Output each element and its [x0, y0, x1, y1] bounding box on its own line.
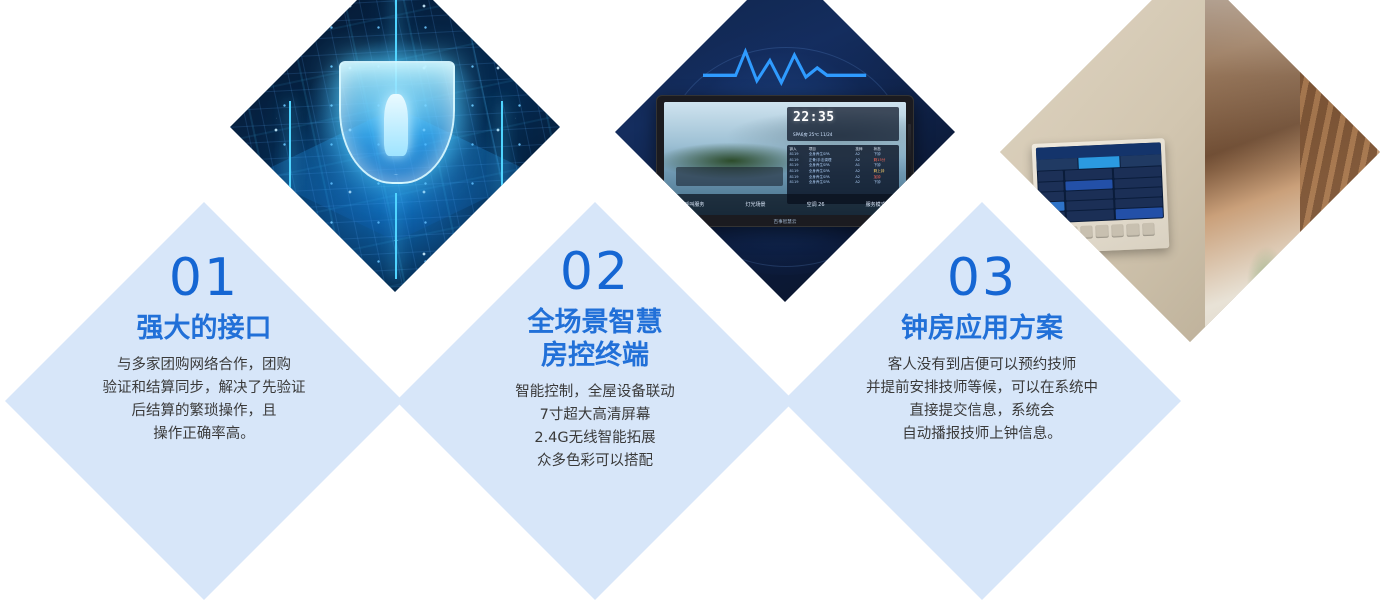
- cell: A2: [855, 180, 871, 186]
- terminal-product-image: 22:35 SPA6房 25℃ 11/24 钟入 项目 技师 状态 8119: [615, 0, 955, 302]
- panel-screen: [1036, 142, 1164, 223]
- card-01-content: 01 强大的接口 与多家团购网络合作，团购验证和结算同步，解决了先验证后结算的繁…: [5, 252, 403, 446]
- card-01-title: 强大的接口: [5, 313, 403, 346]
- list-item-highlight: [1116, 207, 1164, 218]
- music-player-widget: [676, 167, 783, 185]
- photo-diamond-security: [230, 0, 560, 292]
- card-01-description: 与多家团购网络合作，团购验证和结算同步，解决了先验证后结算的繁琐操作，且操作正确…: [5, 354, 403, 446]
- rail-item-active: [1039, 201, 1064, 211]
- rail-item: [1039, 181, 1064, 191]
- cell: 下钟: [874, 180, 897, 186]
- panel-button: [1065, 226, 1078, 240]
- panel-tab-selected: [1079, 156, 1120, 169]
- panel-button: [1111, 224, 1124, 238]
- card-03-content: 03 钟房应用方案 客人没有到店便可以预约技师并提前安排技师等候，可以在系统中直…: [783, 252, 1181, 446]
- panel-tab: [1037, 158, 1078, 171]
- panel-button: [1049, 227, 1062, 241]
- card-01-number: 01: [5, 252, 403, 304]
- rail-item: [1039, 191, 1064, 201]
- panel-hardware-buttons: [1039, 217, 1165, 245]
- card-03-title: 钟房应用方案: [783, 313, 1181, 346]
- light-ray-left: [289, 101, 291, 200]
- security-hologram-image: [230, 0, 560, 292]
- list-item: [1066, 199, 1114, 210]
- light-ray-right: [501, 101, 503, 200]
- bar-item-service-mode: 服务模式: [866, 201, 886, 208]
- device-screen: 22:35 SPA6房 25℃ 11/24 钟入 项目 技师 状态 8119: [664, 102, 906, 216]
- wall-control-panel: [1032, 138, 1170, 254]
- plant-foliage: [1228, 205, 1357, 334]
- feature-card-01: 01 强大的接口 与多家团购网络合作，团购验证和结算同步，解决了先验证后结算的繁…: [5, 202, 403, 600]
- panel-button: [1127, 223, 1140, 237]
- list-item: [1066, 189, 1114, 200]
- card-03-description: 客人没有到店便可以预约技师并提前安排技师等候，可以在系统中直接提交信息，系统会自…: [783, 354, 1181, 446]
- panel-button: [1142, 223, 1155, 237]
- list-item: [1114, 177, 1162, 188]
- heartbeat-icon: [703, 44, 866, 88]
- clock-status-line: SPA6房 25℃ 11/24: [793, 132, 832, 138]
- bottom-quick-bar: 呼叫服务 灯光场景 空调 26 服务模式: [664, 194, 906, 216]
- card-02-number: 02: [396, 246, 794, 298]
- list-item-selected: [1065, 179, 1113, 190]
- light-ray-bottom: [395, 193, 397, 279]
- clock-time: 22:35: [793, 111, 835, 124]
- panel-button: [1096, 225, 1109, 239]
- table-row: 8119 全身养生SPA A2 下钟: [789, 180, 896, 186]
- card-02-title: 全场景智慧房控终端: [396, 307, 794, 373]
- bar-item-call-service: 呼叫服务: [684, 201, 704, 208]
- feature-card-02: 02 全场景智慧房控终端 智能控制，全屋设备联动7寸超大高清屏幕2.4G无线智能…: [396, 202, 794, 600]
- device-brand-label: 百事智慧云: [657, 219, 913, 225]
- cell: 8119: [789, 180, 806, 186]
- rail-item: [1038, 171, 1063, 181]
- panel-body: [1037, 165, 1164, 223]
- panel-button: [1080, 225, 1093, 239]
- card-02-description: 智能控制，全屋设备联动7寸超大高清屏幕2.4G无线智能拓展众多色彩可以搭配: [396, 381, 794, 473]
- panel-list-right: [1114, 166, 1163, 218]
- panel-left-rail: [1038, 171, 1065, 222]
- bar-item-light-scene: 灯光场景: [745, 201, 765, 208]
- photo-diamond-terminal: 22:35 SPA6房 25℃ 11/24 钟入 项目 技师 状态 8119: [615, 0, 955, 302]
- device-side-buttons: [908, 124, 911, 176]
- list-item: [1114, 166, 1162, 177]
- rail-item: [1040, 212, 1065, 222]
- list-item: [1065, 169, 1113, 180]
- panel-list-left: [1065, 169, 1114, 221]
- list-item: [1066, 209, 1114, 220]
- list-item: [1115, 197, 1163, 208]
- cell: 全身养生SPA: [809, 180, 854, 186]
- feature-diamonds-banner: 22:35 SPA6房 25℃ 11/24 钟入 项目 技师 状态 8119: [0, 0, 1381, 603]
- bar-item-aircon: 空调 26: [807, 201, 825, 208]
- clock-widget: 22:35 SPA6房 25℃ 11/24: [787, 107, 898, 141]
- smart-panel-device: 22:35 SPA6房 25℃ 11/24 钟入 项目 技师 状态 8119: [656, 95, 914, 228]
- list-item: [1115, 187, 1163, 198]
- card-02-content: 02 全场景智慧房控终端 智能控制，全屋设备联动7寸超大高清屏幕2.4G无线智能…: [396, 246, 794, 473]
- panel-tab: [1120, 154, 1161, 167]
